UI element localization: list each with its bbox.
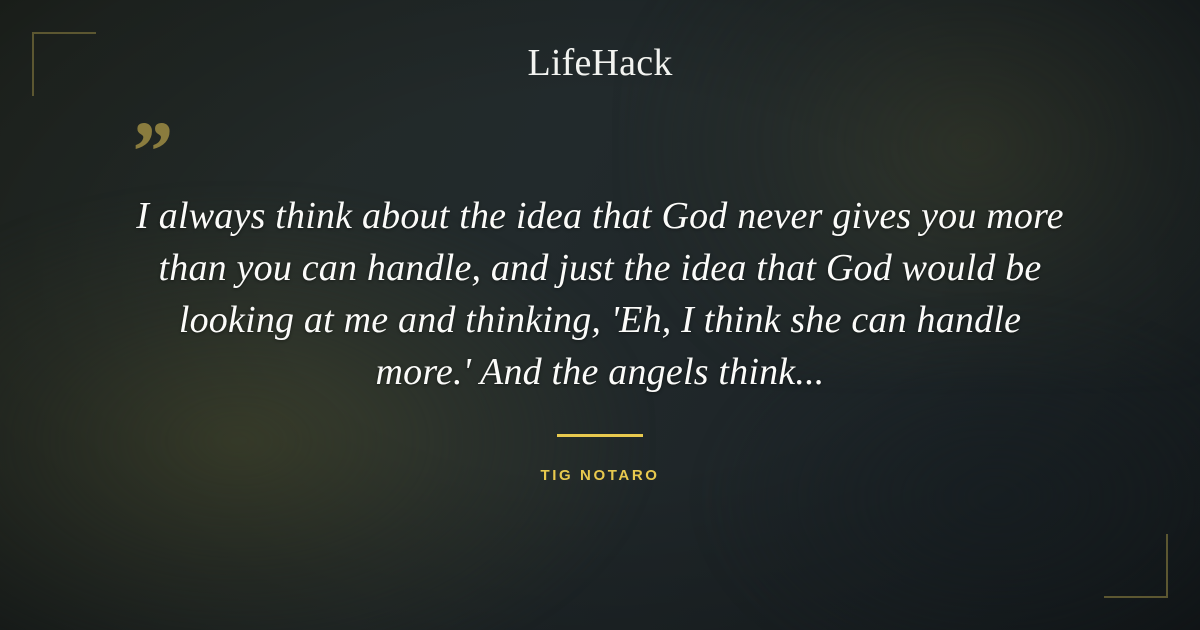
quote-line: than you can handle, and just the idea t…	[90, 242, 1110, 294]
gold-divider	[557, 434, 643, 437]
quote-line: I always think about the idea that God n…	[90, 190, 1110, 242]
quote-line: looking at me and thinking, 'Eh, I think…	[90, 294, 1110, 346]
brand-logo: LifeHack	[0, 40, 1200, 86]
quote-block: I always think about the idea that God n…	[90, 190, 1110, 398]
quote-mark-icon: ”	[128, 108, 171, 194]
quote-text: I always think about the idea that God n…	[90, 190, 1110, 398]
quote-author: TIG NOTARO	[0, 466, 1200, 486]
card-content: LifeHack ” I always think about the idea…	[0, 0, 1200, 630]
quote-card: LifeHack ” I always think about the idea…	[0, 0, 1200, 630]
quote-line: more.' And the angels think...	[90, 346, 1110, 398]
